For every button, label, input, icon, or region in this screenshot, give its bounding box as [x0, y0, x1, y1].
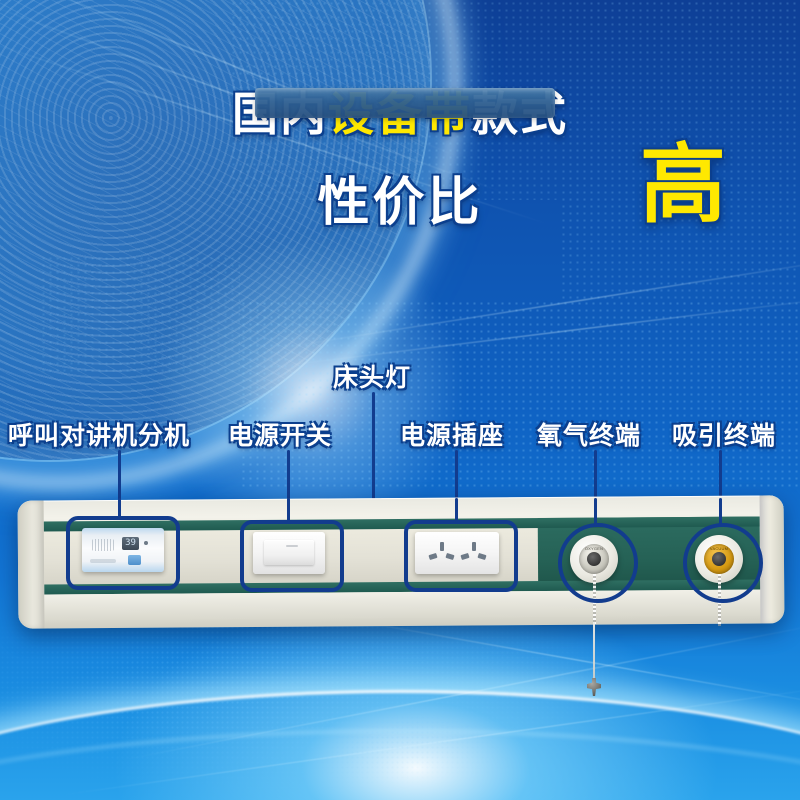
panel-bottom-rail: [32, 589, 770, 620]
hanging-cord: [593, 622, 595, 684]
callout-label-intercom: 呼叫对讲机分机: [8, 416, 190, 452]
promo-image-stage: 国内设备带款式 性价比 高 呼叫对讲机分机 电源开关 床头灯 电源插座 氧气终端…: [0, 0, 800, 800]
highlight-box-intercom: [66, 516, 180, 590]
bed-lamp-diffuser: [255, 88, 555, 118]
dot-grid-pattern: [40, 255, 240, 375]
panel-end-cap-right: [760, 495, 785, 623]
callout-label-oxygen: 氧气终端: [537, 416, 641, 452]
highlight-circle-suction: [683, 523, 763, 603]
callout-label-power-switch: 电源开关: [228, 416, 332, 452]
callout-label-suction: 吸引终端: [672, 416, 776, 452]
headline-text-high: 高: [640, 142, 726, 228]
highlight-circle-oxygen: [558, 523, 638, 603]
leader-line-power-switch-tip: [287, 498, 290, 522]
panel-end-cap-left: [18, 500, 45, 628]
callout-label-bed-lamp: 床头灯: [333, 358, 411, 394]
highlight-box-power-switch: [240, 520, 344, 592]
highlight-box-power-socket: [404, 520, 518, 592]
leader-line-intercom-tip: [118, 498, 121, 518]
leader-line-oxygen-tip: [594, 498, 597, 526]
leader-line-suction-tip: [719, 498, 722, 526]
callout-label-power-socket: 电源插座: [400, 416, 504, 452]
dot-grid-pattern: [240, 300, 800, 490]
headline-text-value-ratio: 性价比: [317, 174, 482, 232]
leader-line-power-socket-tip: [455, 498, 458, 522]
